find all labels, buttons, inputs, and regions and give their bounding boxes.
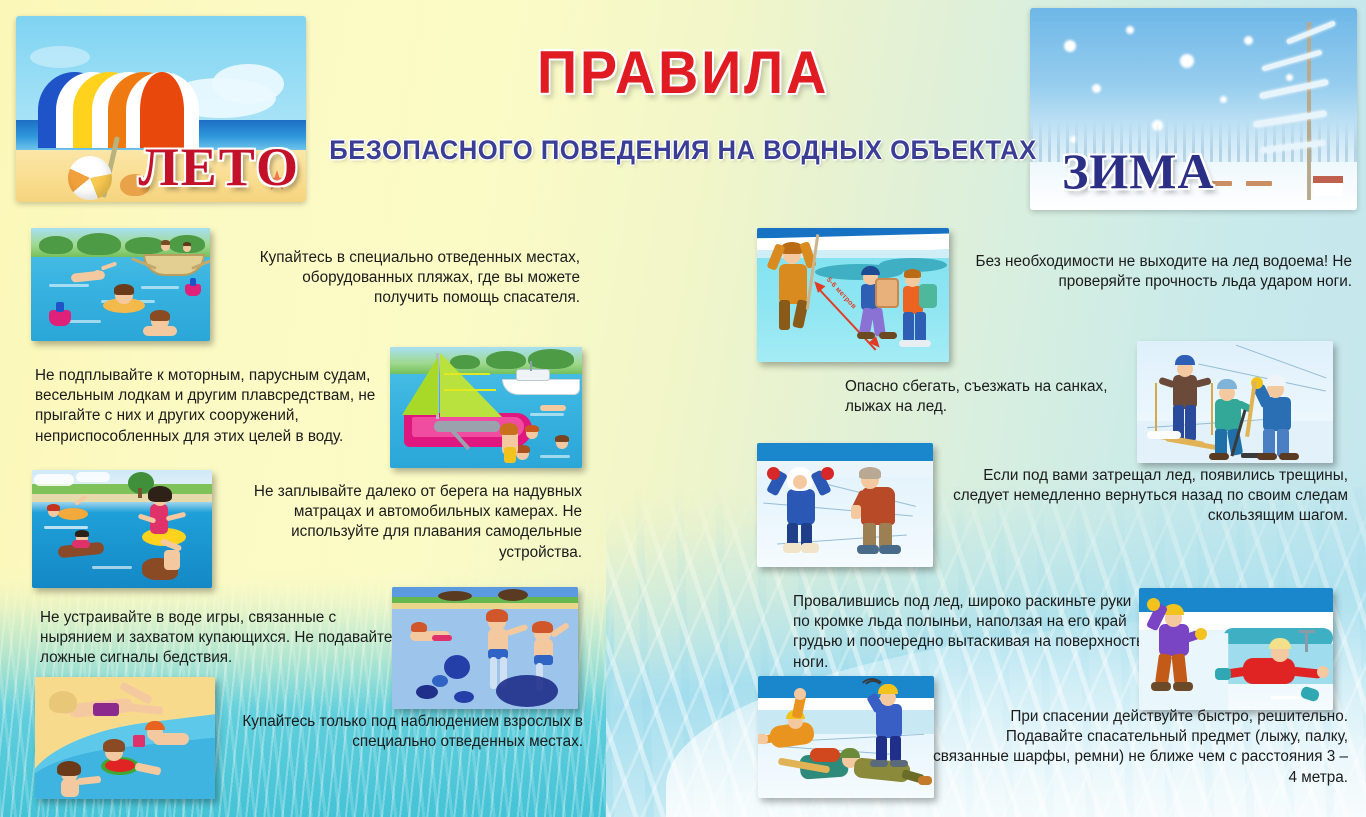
summer-rule-4-text: Не устраивайте в воде игры, связанные с … [40, 608, 400, 669]
winter-rule-4-text: Провалившись под лед, широко раскиньте р… [793, 592, 1145, 673]
summer-rule-2-text: Не подплывайте к моторным, парусным суда… [35, 366, 385, 447]
summer-rule-3-text: Не заплывайте далеко от берега на надувн… [230, 482, 582, 563]
summer-rule-3-image [32, 470, 212, 588]
hut-icon [1313, 176, 1343, 196]
summer-rule-4-image [392, 587, 578, 709]
winter-rule-2-text: Опасно сбегать, съезжать на санках, лыжа… [845, 377, 1155, 417]
summer-rule-1-image [31, 228, 210, 341]
page-subtitle: БЕЗОПАСНОГО ПОВЕДЕНИЯ НА ВОДНЫХ ОБЪЕКТАХ [34, 135, 1332, 166]
winter-rule-1-text: Без необходимости не выходите на лед вод… [950, 252, 1352, 292]
safety-poster: ЛЕТО ЗИМА ПРАВИЛА БЕЗОПАСНОГО ПОВЕДЕНИЯ … [0, 0, 1366, 817]
bench-icon [1246, 181, 1272, 186]
summer-rule-5-image [35, 677, 215, 799]
page-title: ПРАВИЛА [48, 38, 1318, 107]
winter-rule-2-image [1137, 341, 1333, 463]
winter-rule-3-text: Если под вами затрещал лед, появились тр… [930, 466, 1348, 527]
winter-rule-1-image: 5-6 метров [757, 228, 949, 362]
winter-rule-4-image [1139, 588, 1333, 710]
winter-rule-5-image [758, 676, 934, 798]
winter-rule-3-image [757, 443, 933, 567]
summer-rule-2-image [390, 347, 582, 468]
winter-rule-5-text: При спасении действуйте быстро, решитель… [930, 707, 1348, 788]
summer-rule-5-text: Купайтесь только под наблюдением взрослы… [235, 712, 583, 752]
summer-rule-1-text: Купайтесь в специально отведенных местах… [240, 248, 580, 309]
